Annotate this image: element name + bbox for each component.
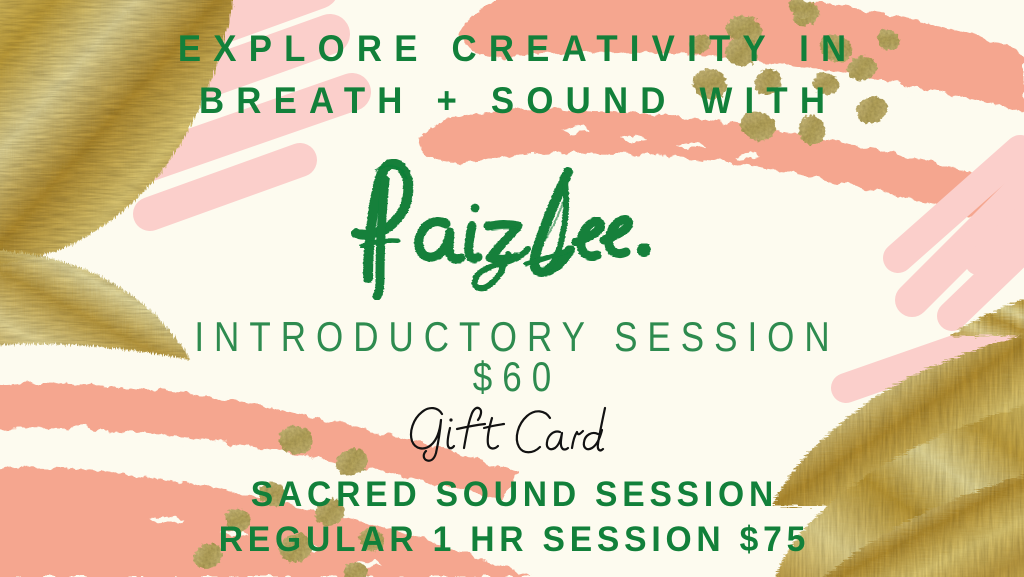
footer-line-2: REGULAR 1 HR SESSION $75 — [20, 520, 1003, 560]
headline-line-2: BREATH + SOUND WITH — [31, 80, 994, 122]
session-price: $60 — [0, 354, 1024, 401]
footer-line-1: SACRED SOUND SESSION — [20, 475, 1003, 515]
gift-card-graphic: EXPLORE CREATIVITY IN BREATH + SOUND WIT… — [0, 0, 1024, 577]
headline-line-1: EXPLORE CREATIVITY IN — [31, 28, 994, 70]
brand-logo-script — [332, 150, 692, 300]
gift-card-script — [0, 398, 1024, 470]
brand-logo — [0, 150, 1024, 310]
gift-card-script-text — [402, 398, 622, 464]
